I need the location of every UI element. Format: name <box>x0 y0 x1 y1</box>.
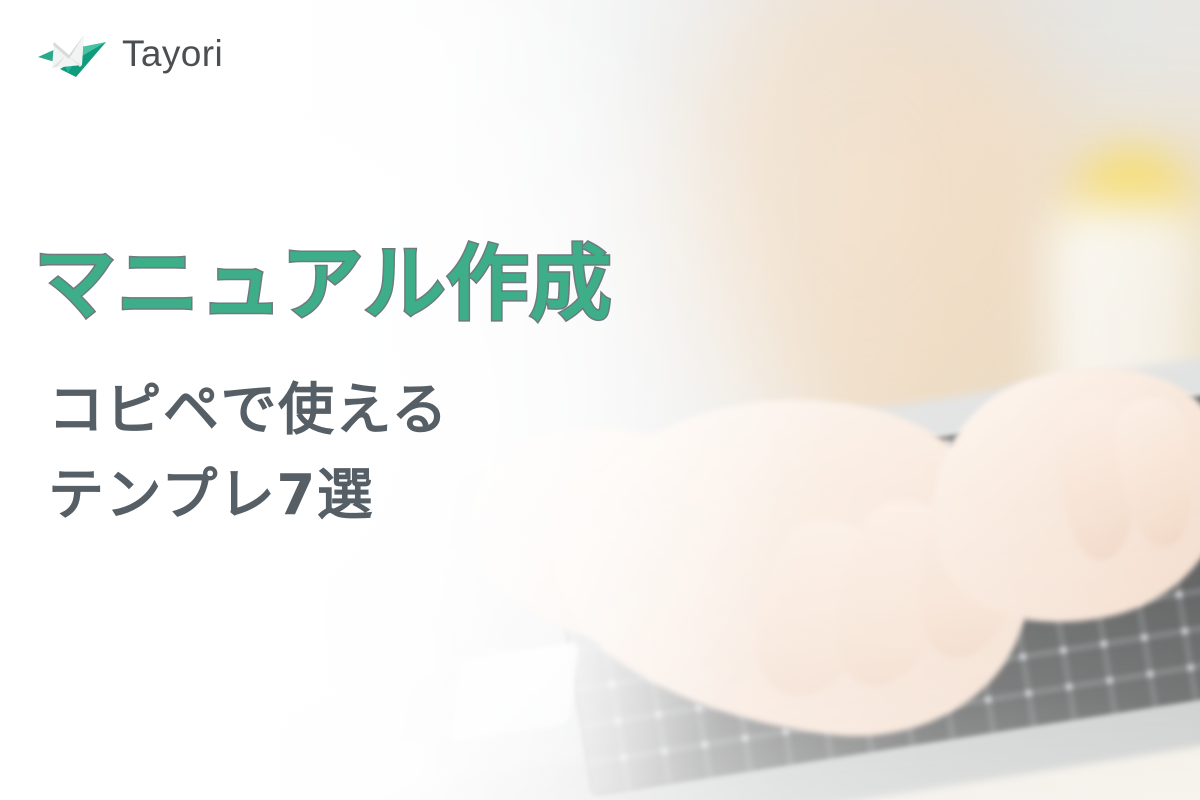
subtitle-line-2: テンプレ7選 <box>48 453 449 538</box>
brand-wordmark: Tayori <box>122 35 223 72</box>
page-subtitle: コピペで使える テンプレ7選 <box>48 368 449 538</box>
subtitle-line-1: コピペで使える <box>48 368 449 453</box>
paper-plane-envelope-icon <box>36 26 108 80</box>
brand-logo[interactable]: Tayori <box>36 26 223 80</box>
page-title: マニュアル作成 <box>34 244 613 326</box>
hero-banner: Tayori マニュアル作成 コピペで使える テンプレ7選 <box>0 0 1200 800</box>
